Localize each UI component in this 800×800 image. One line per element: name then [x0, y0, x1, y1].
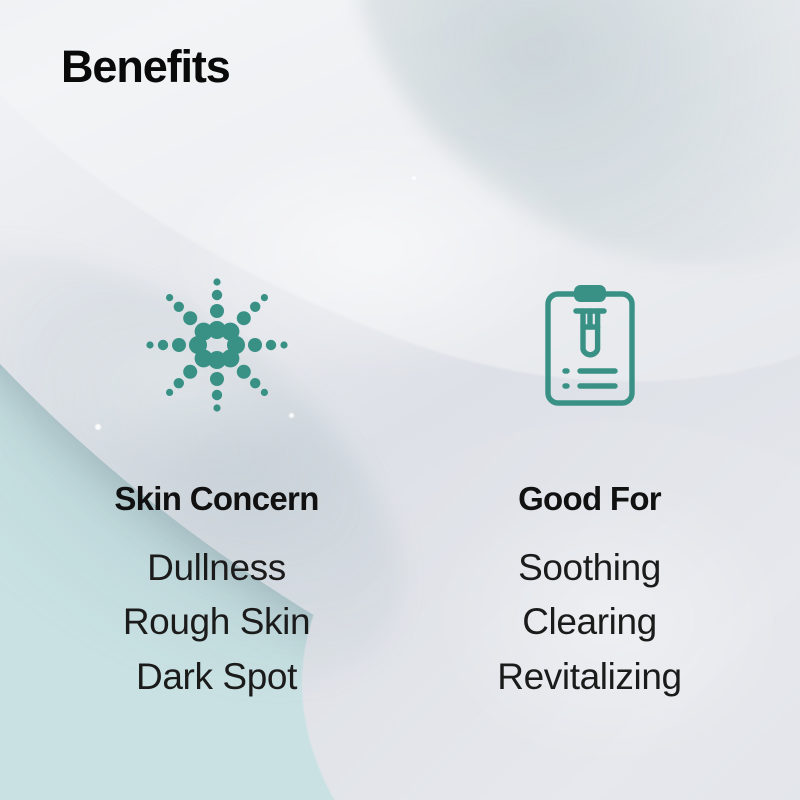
benefit-list: Dullness Rough Skin Dark Spot	[123, 541, 310, 704]
benefits-columns: Skin Concern Dullness Rough Skin Dark Sp…	[0, 270, 800, 704]
list-item: Soothing	[518, 541, 661, 595]
benefit-list: Soothing Clearing Revitalizing	[497, 541, 681, 704]
page-title: Benefits	[61, 44, 230, 89]
clipboard-test-tube-icon	[544, 283, 636, 407]
list-item: Clearing	[522, 595, 657, 649]
list-item: Dark Spot	[136, 650, 297, 704]
benefit-column-skin-concern: Skin Concern Dullness Rough Skin Dark Sp…	[30, 270, 403, 704]
column-heading: Good For	[518, 482, 661, 515]
column-heading: Skin Concern	[114, 482, 318, 515]
icon-slot	[142, 270, 292, 420]
list-item: Dullness	[147, 541, 286, 595]
dotted-starburst-icon	[142, 274, 292, 416]
list-item: Revitalizing	[497, 650, 681, 704]
list-item: Rough Skin	[123, 595, 310, 649]
benefit-column-good-for: Good For Soothing Clearing Revitalizing	[403, 270, 776, 704]
benefits-infographic: Benefits	[0, 0, 800, 800]
content-layer: Benefits	[0, 0, 800, 800]
icon-slot	[544, 270, 636, 420]
clipboard-clip-icon	[574, 285, 606, 302]
